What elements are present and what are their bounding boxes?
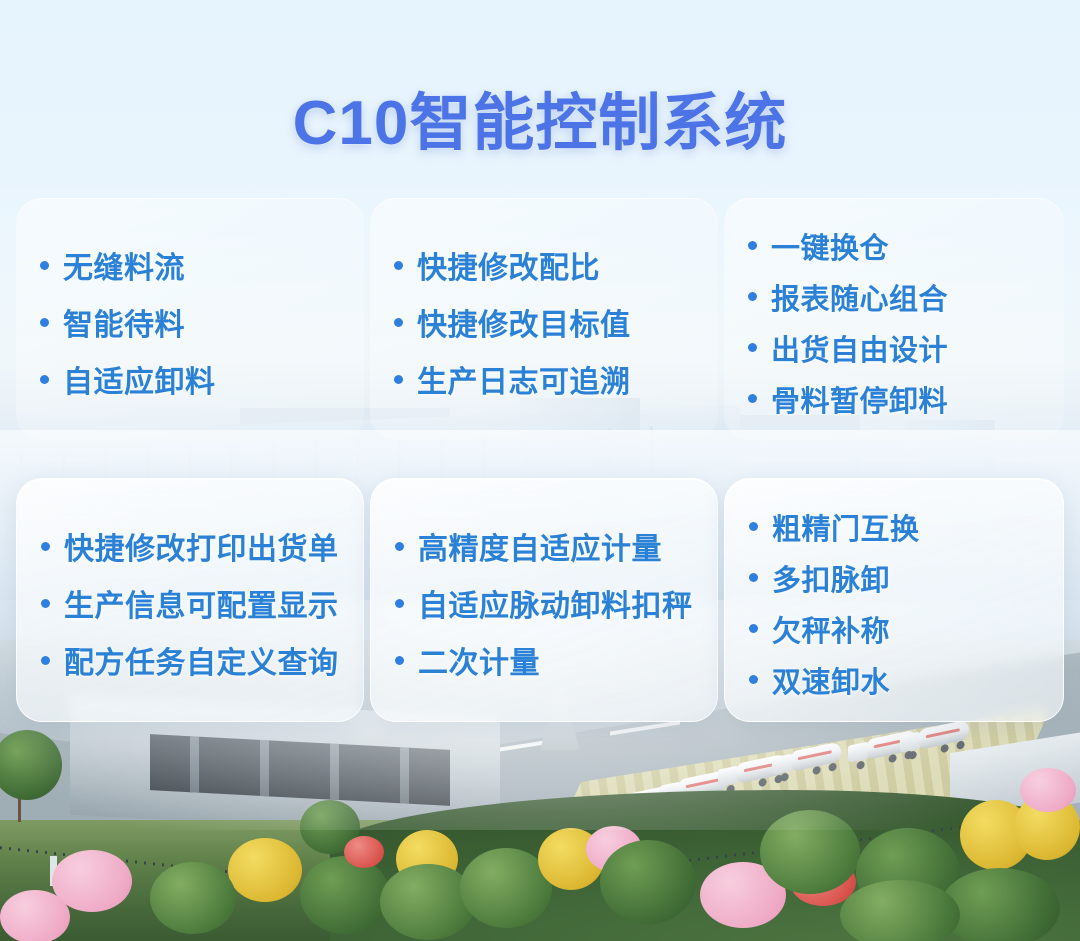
feature-list-2: 快捷修改配比 快捷修改目标值 生产日志可追溯 [394, 230, 700, 414]
bullet-icon [394, 261, 403, 270]
bullet-icon [394, 375, 403, 384]
bullet-icon [395, 656, 404, 665]
feature-card-2[interactable]: 快捷修改配比 快捷修改目标值 生产日志可追溯 [370, 198, 718, 440]
feature-card-1[interactable]: 无缝料流 智能待料 自适应卸料 [16, 198, 364, 440]
bullet-icon [748, 292, 757, 301]
feature-label: 智能待料 [63, 300, 185, 344]
feature-list-1: 无缝料流 智能待料 自适应卸料 [40, 230, 346, 414]
bullet-icon [394, 318, 403, 327]
list-item: 报表随心组合 [748, 276, 1046, 318]
feature-label: 配方任务自定义查询 [64, 638, 339, 682]
feature-label: 快捷修改配比 [417, 243, 600, 287]
bullet-icon [41, 656, 50, 665]
list-item: 二次计量 [395, 638, 699, 682]
feature-label: 二次计量 [418, 638, 540, 682]
bullet-icon [749, 675, 758, 684]
list-item: 骨料暂停卸料 [748, 378, 1046, 420]
feature-card-grid: 无缝料流 智能待料 自适应卸料 快捷修改配比 快捷修改目标值 生产日志可追溯 一… [16, 198, 1064, 722]
bullet-icon [748, 343, 757, 352]
feature-list-3: 一键换仓 报表随心组合 出货自由设计 骨料暂停卸料 [748, 216, 1046, 429]
list-item: 快捷修改配比 [394, 243, 700, 287]
feature-label: 一键换仓 [771, 225, 889, 267]
feature-list-4: 快捷修改打印出货单 生产信息可配置显示 配方任务自定义查询 [41, 511, 345, 695]
list-item: 自适应脉动卸料扣秤 [395, 581, 699, 625]
feature-label: 骨料暂停卸料 [771, 378, 948, 420]
feature-card-6[interactable]: 粗精门互换 多扣脉卸 欠秤补称 双速卸水 [724, 478, 1064, 722]
bullet-icon [41, 599, 50, 608]
bullet-icon [395, 542, 404, 551]
bullet-icon [748, 241, 757, 250]
feature-label: 欠秤补称 [772, 608, 890, 650]
list-item: 生产信息可配置显示 [41, 581, 345, 625]
bullet-icon [40, 375, 49, 384]
bullet-icon [749, 624, 758, 633]
list-item: 配方任务自定义查询 [41, 638, 345, 682]
list-item: 出货自由设计 [748, 327, 1046, 369]
list-item: 欠秤补称 [749, 608, 1045, 650]
list-item: 智能待料 [40, 300, 346, 344]
list-item: 快捷修改打印出货单 [41, 524, 345, 568]
feature-label: 自适应卸料 [63, 357, 216, 401]
feature-label: 快捷修改目标值 [417, 300, 631, 344]
list-item: 一键换仓 [748, 225, 1046, 267]
feature-label: 快捷修改打印出货单 [64, 524, 339, 568]
list-item: 无缝料流 [40, 243, 346, 287]
feature-list-6: 粗精门互换 多扣脉卸 欠秤补称 双速卸水 [749, 497, 1045, 710]
feature-label: 自适应脉动卸料扣秤 [418, 581, 693, 625]
bullet-icon [395, 599, 404, 608]
feature-list-5: 高精度自适应计量 自适应脉动卸料扣秤 二次计量 [395, 511, 699, 695]
feature-label: 生产日志可追溯 [417, 357, 631, 401]
list-item: 高精度自适应计量 [395, 524, 699, 568]
feature-label: 报表随心组合 [771, 276, 948, 318]
bullet-icon [749, 522, 758, 531]
list-item: 粗精门互换 [749, 506, 1045, 548]
bullet-icon [40, 261, 49, 270]
list-item: 多扣脉卸 [749, 557, 1045, 599]
bullet-icon [41, 542, 50, 551]
feature-card-3[interactable]: 一键换仓 报表随心组合 出货自由设计 骨料暂停卸料 [724, 198, 1064, 440]
feature-label: 粗精门互换 [772, 506, 920, 548]
list-item: 生产日志可追溯 [394, 357, 700, 401]
feature-card-5[interactable]: 高精度自适应计量 自适应脉动卸料扣秤 二次计量 [370, 478, 718, 722]
bullet-icon [749, 573, 758, 582]
feature-label: 无缝料流 [63, 243, 185, 287]
feature-label: 高精度自适应计量 [418, 524, 662, 568]
bullet-icon [748, 394, 757, 403]
feature-label: 多扣脉卸 [772, 557, 890, 599]
list-item: 双速卸水 [749, 659, 1045, 701]
feature-label: 双速卸水 [772, 659, 890, 701]
poster-root: C10智能控制系统 无缝料流 智能待料 自适应卸料 快捷修改配比 快捷修改目标值… [0, 0, 1080, 941]
list-item: 自适应卸料 [40, 357, 346, 401]
list-item: 快捷修改目标值 [394, 300, 700, 344]
feature-card-4[interactable]: 快捷修改打印出货单 生产信息可配置显示 配方任务自定义查询 [16, 478, 364, 722]
feature-label: 生产信息可配置显示 [64, 581, 339, 625]
page-title: C10智能控制系统 [0, 72, 1080, 162]
content-layer: C10智能控制系统 无缝料流 智能待料 自适应卸料 快捷修改配比 快捷修改目标值… [0, 0, 1080, 941]
bullet-icon [40, 318, 49, 327]
feature-label: 出货自由设计 [771, 327, 948, 369]
